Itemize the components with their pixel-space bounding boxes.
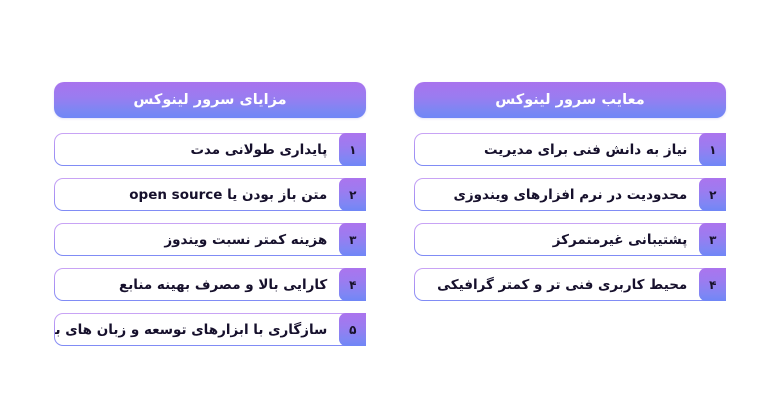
- list-disadvantages: ۱ نیاز به دانش فنی برای مدیریت ۲ محدودیت…: [414, 133, 726, 301]
- comparison-board: مزایای سرور لینوکس ۱ پایداری طولانی مدت …: [0, 0, 780, 405]
- list-item[interactable]: ۴ محیط کاربری فنی تر و کمتر گرافیکی: [414, 268, 726, 301]
- item-number-badge: ۱: [339, 133, 366, 167]
- item-number-badge: ۲: [699, 178, 726, 212]
- item-label: سازگاری با ابزارهای توسعه و زبان های برن…: [55, 314, 339, 345]
- column-advantages: مزایای سرور لینوکس ۱ پایداری طولانی مدت …: [54, 82, 366, 346]
- column-disadvantages: معایب سرور لینوکس ۱ نیاز به دانش فنی برا…: [414, 82, 726, 301]
- item-number-badge: ۱: [699, 133, 726, 167]
- item-number-badge: ۴: [699, 268, 726, 302]
- item-label: پشتیبانی غیرمتمرکز: [415, 224, 699, 255]
- item-number-badge: ۳: [699, 223, 726, 257]
- item-label: کارایی بالا و مصرف بهینه منابع: [55, 269, 339, 300]
- list-item[interactable]: ۱ نیاز به دانش فنی برای مدیریت: [414, 133, 726, 166]
- item-number-badge: ۴: [339, 268, 366, 302]
- item-label: متن باز بودن یا open source: [55, 179, 339, 210]
- list-item[interactable]: ۲ محدودیت در نرم افزارهای ویندوزی: [414, 178, 726, 211]
- list-item[interactable]: ۵ سازگاری با ابزارهای توسعه و زبان های ب…: [54, 313, 366, 346]
- list-item[interactable]: ۲ متن باز بودن یا open source: [54, 178, 366, 211]
- item-label: محیط کاربری فنی تر و کمتر گرافیکی: [415, 269, 699, 300]
- list-item[interactable]: ۱ پایداری طولانی مدت: [54, 133, 366, 166]
- item-label: پایداری طولانی مدت: [55, 134, 339, 165]
- item-number-badge: ۳: [339, 223, 366, 257]
- list-item[interactable]: ۳ هزینه کمتر نسبت ویندوز: [54, 223, 366, 256]
- item-number-badge: ۵: [339, 313, 366, 347]
- list-item[interactable]: ۳ پشتیبانی غیرمتمرکز: [414, 223, 726, 256]
- list-advantages: ۱ پایداری طولانی مدت ۲ متن باز بودن یا o…: [54, 133, 366, 346]
- column-header-disadvantages: معایب سرور لینوکس: [414, 82, 726, 118]
- item-label: نیاز به دانش فنی برای مدیریت: [415, 134, 699, 165]
- item-label: محدودیت در نرم افزارهای ویندوزی: [415, 179, 699, 210]
- column-header-advantages: مزایای سرور لینوکس: [54, 82, 366, 118]
- item-label: هزینه کمتر نسبت ویندوز: [55, 224, 339, 255]
- item-number-badge: ۲: [339, 178, 366, 212]
- list-item[interactable]: ۴ کارایی بالا و مصرف بهینه منابع: [54, 268, 366, 301]
